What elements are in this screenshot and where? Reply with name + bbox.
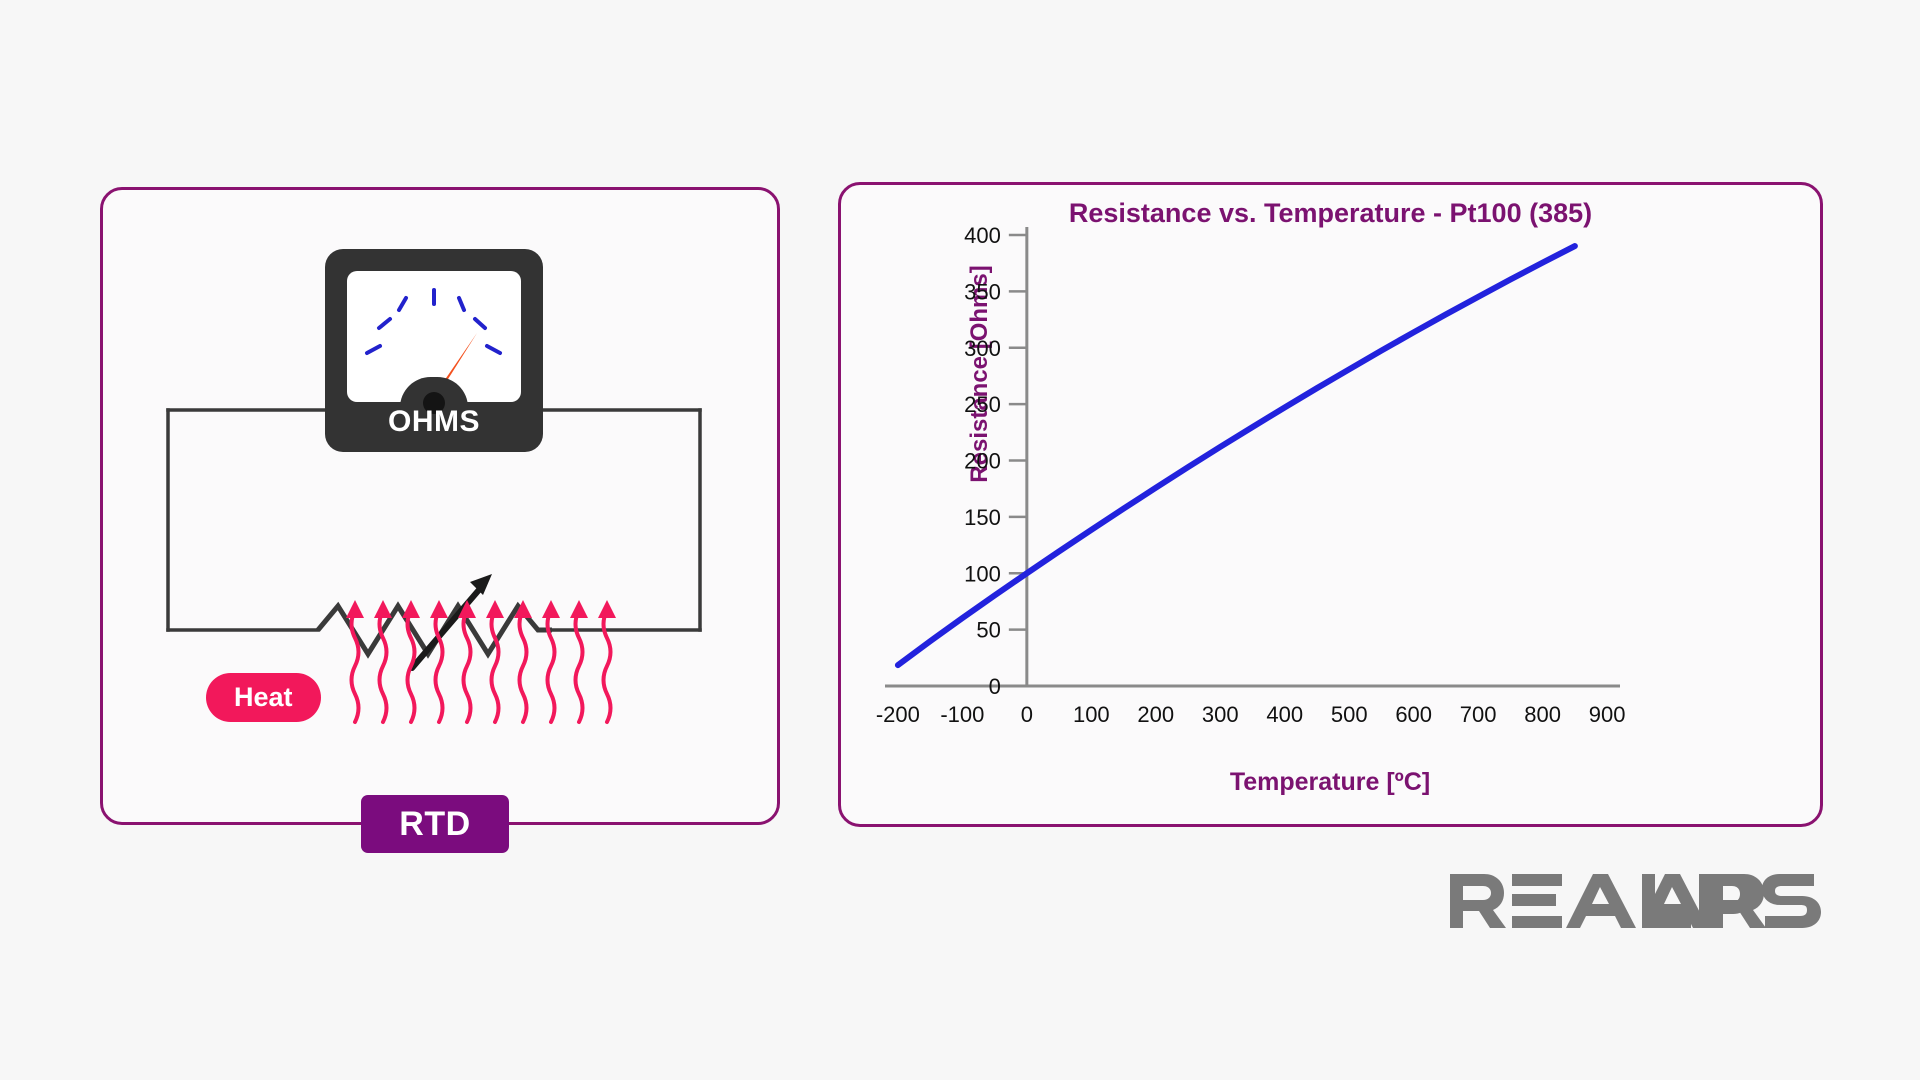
chart-plot-area: -200-1000100200300400500600700800900 050… <box>838 182 1823 827</box>
y-tick-label: 0 <box>989 674 1001 699</box>
x-tick-labels-group: -200-1000100200300400500600700800900 <box>876 702 1626 727</box>
x-tick-label: 700 <box>1460 702 1497 727</box>
y-tick-label: 150 <box>964 505 1001 530</box>
y-tick-labels-group: 050100150200250300350400 <box>964 223 1001 699</box>
variable-resistor-arrow-icon <box>412 574 492 668</box>
ohmmeter: OHMS <box>325 249 543 452</box>
x-tick-label: 200 <box>1137 702 1174 727</box>
x-tick-label: 900 <box>1589 702 1626 727</box>
x-tick-label: 400 <box>1266 702 1303 727</box>
rtd-component-tag: RTD <box>361 795 509 853</box>
x-tick-label: 500 <box>1331 702 1368 727</box>
x-tick-label: 600 <box>1395 702 1432 727</box>
axis-ticks-group <box>1009 235 1027 630</box>
x-tick-label: 0 <box>1021 702 1033 727</box>
x-tick-label: -200 <box>876 702 920 727</box>
y-tick-label: 50 <box>976 618 1000 643</box>
x-tick-label: 100 <box>1073 702 1110 727</box>
y-tick-label: 200 <box>964 449 1001 474</box>
y-tick-label: 250 <box>964 392 1001 417</box>
heat-wave-arrows-icon <box>346 600 616 722</box>
heat-badge: Heat <box>206 673 321 722</box>
x-tick-label: 300 <box>1202 702 1239 727</box>
realpars-logo-s <box>1760 872 1830 930</box>
y-tick-label: 400 <box>964 223 1001 248</box>
y-tick-label: 100 <box>964 561 1001 586</box>
y-tick-label: 350 <box>964 279 1001 304</box>
realpars-logo <box>1450 872 1780 935</box>
dial-tick-marks-icon <box>367 290 500 353</box>
x-tick-label: -100 <box>940 702 984 727</box>
ohmmeter-label: OHMS <box>325 405 543 439</box>
y-tick-label: 300 <box>964 336 1001 361</box>
x-tick-label: 800 <box>1524 702 1561 727</box>
